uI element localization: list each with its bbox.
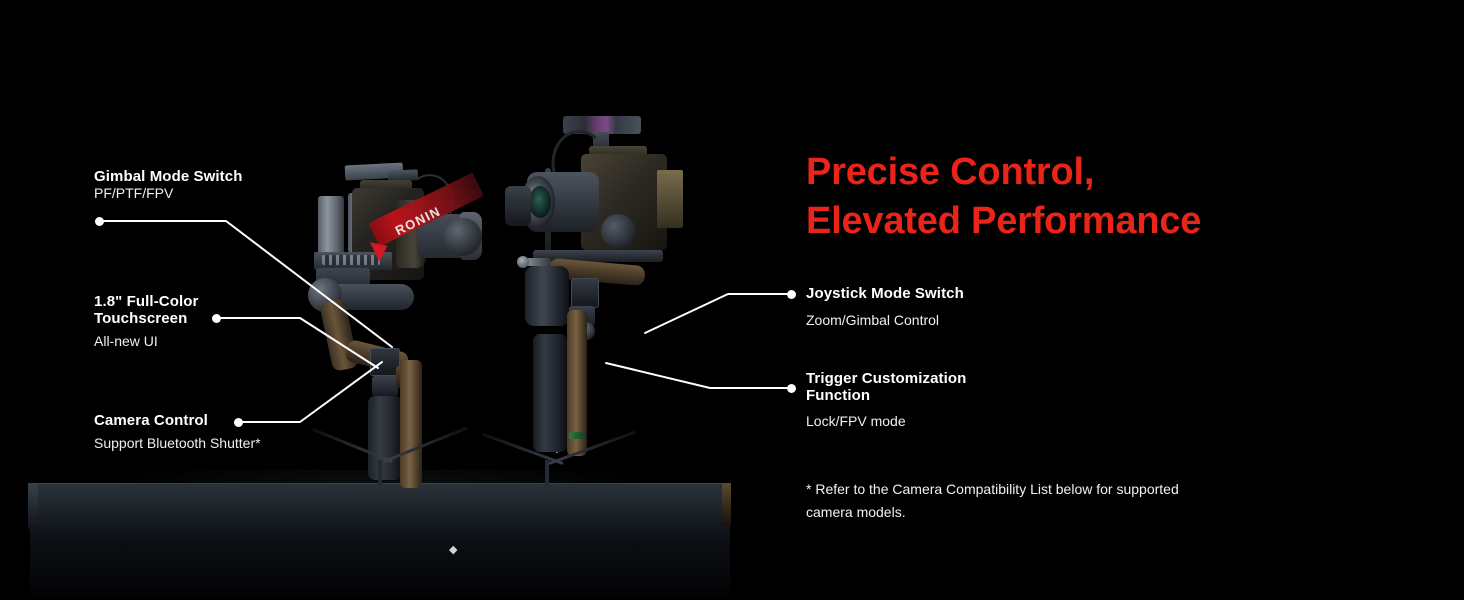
callout-subtitle: Support Bluetooth Shutter* [94,435,261,452]
callout-title: Gimbal Mode Switch [94,168,242,185]
page-headline: Precise Control, Elevated Performance [806,148,1276,246]
callout-dot-trigger-customization [787,384,796,393]
product-feature-banner: RONIN ◆ [0,0,1464,600]
callout-dot-joystick-mode-switch [787,290,796,299]
callout-subtitle: Zoom/Gimbal Control [806,312,964,329]
callout-gimbal-mode-switch: Gimbal Mode Switch PF/PTF/FPV [94,168,242,202]
callout-title-line2: Touchscreen [94,310,198,327]
battery-left [318,196,344,254]
gimbal-left: RONIN ◆ [300,160,500,500]
touchscreen-panel [571,278,599,308]
callout-dot-camera-control [234,418,243,427]
pan-motor: ◆ [525,266,569,326]
callout-dot-touchscreen [212,314,221,323]
tilt-motor [444,218,482,256]
callout-title: Joystick Mode Switch [806,285,964,302]
footnote-line1: * Refer to the Camera Compatibility List… [806,478,1246,501]
callout-joystick-mode-switch: Joystick Mode Switch Zoom/Gimbal Control [806,285,964,329]
footnote-line2: camera models. [806,501,1246,524]
tripod-center-post [378,460,382,486]
vent-grille [322,255,380,265]
callout-subtitle: PF/PTF/FPV [94,185,242,202]
callout-subtitle: Lock/FPV mode [806,413,966,430]
callout-subtitle: All-new UI [94,333,198,350]
status-indicator [569,432,585,439]
camera-monitor [657,170,683,228]
headline-line2: Elevated Performance [806,197,1276,246]
lens-glass [529,186,551,218]
headline-line1: Precise Control, [806,148,1276,197]
focus-motor [601,214,635,248]
gimbal-right: ◆ [505,110,715,500]
footnote: * Refer to the Camera Compatibility List… [806,478,1246,524]
grip-handle [368,396,402,480]
grip-handle-rear [400,360,422,488]
table-edge-left [28,483,38,529]
callout-title-line1: Trigger Customization [806,370,966,387]
dji-logo-icon: ◆ [449,544,461,556]
grip-handle [533,334,567,452]
callout-trigger-customization: Trigger Customization Function Lock/FPV … [806,370,966,430]
callout-dot-gimbal-mode-switch [95,217,104,226]
callout-touchscreen: 1.8" Full-Color Touchscreen All-new UI [94,293,198,350]
callout-title-line2: Function [806,387,966,404]
table-edge-right [722,483,731,525]
thumb-screw-head [517,256,529,268]
control-button-panel [372,376,398,396]
lens-rear [505,186,531,226]
callout-title-line1: 1.8" Full-Color [94,293,198,310]
